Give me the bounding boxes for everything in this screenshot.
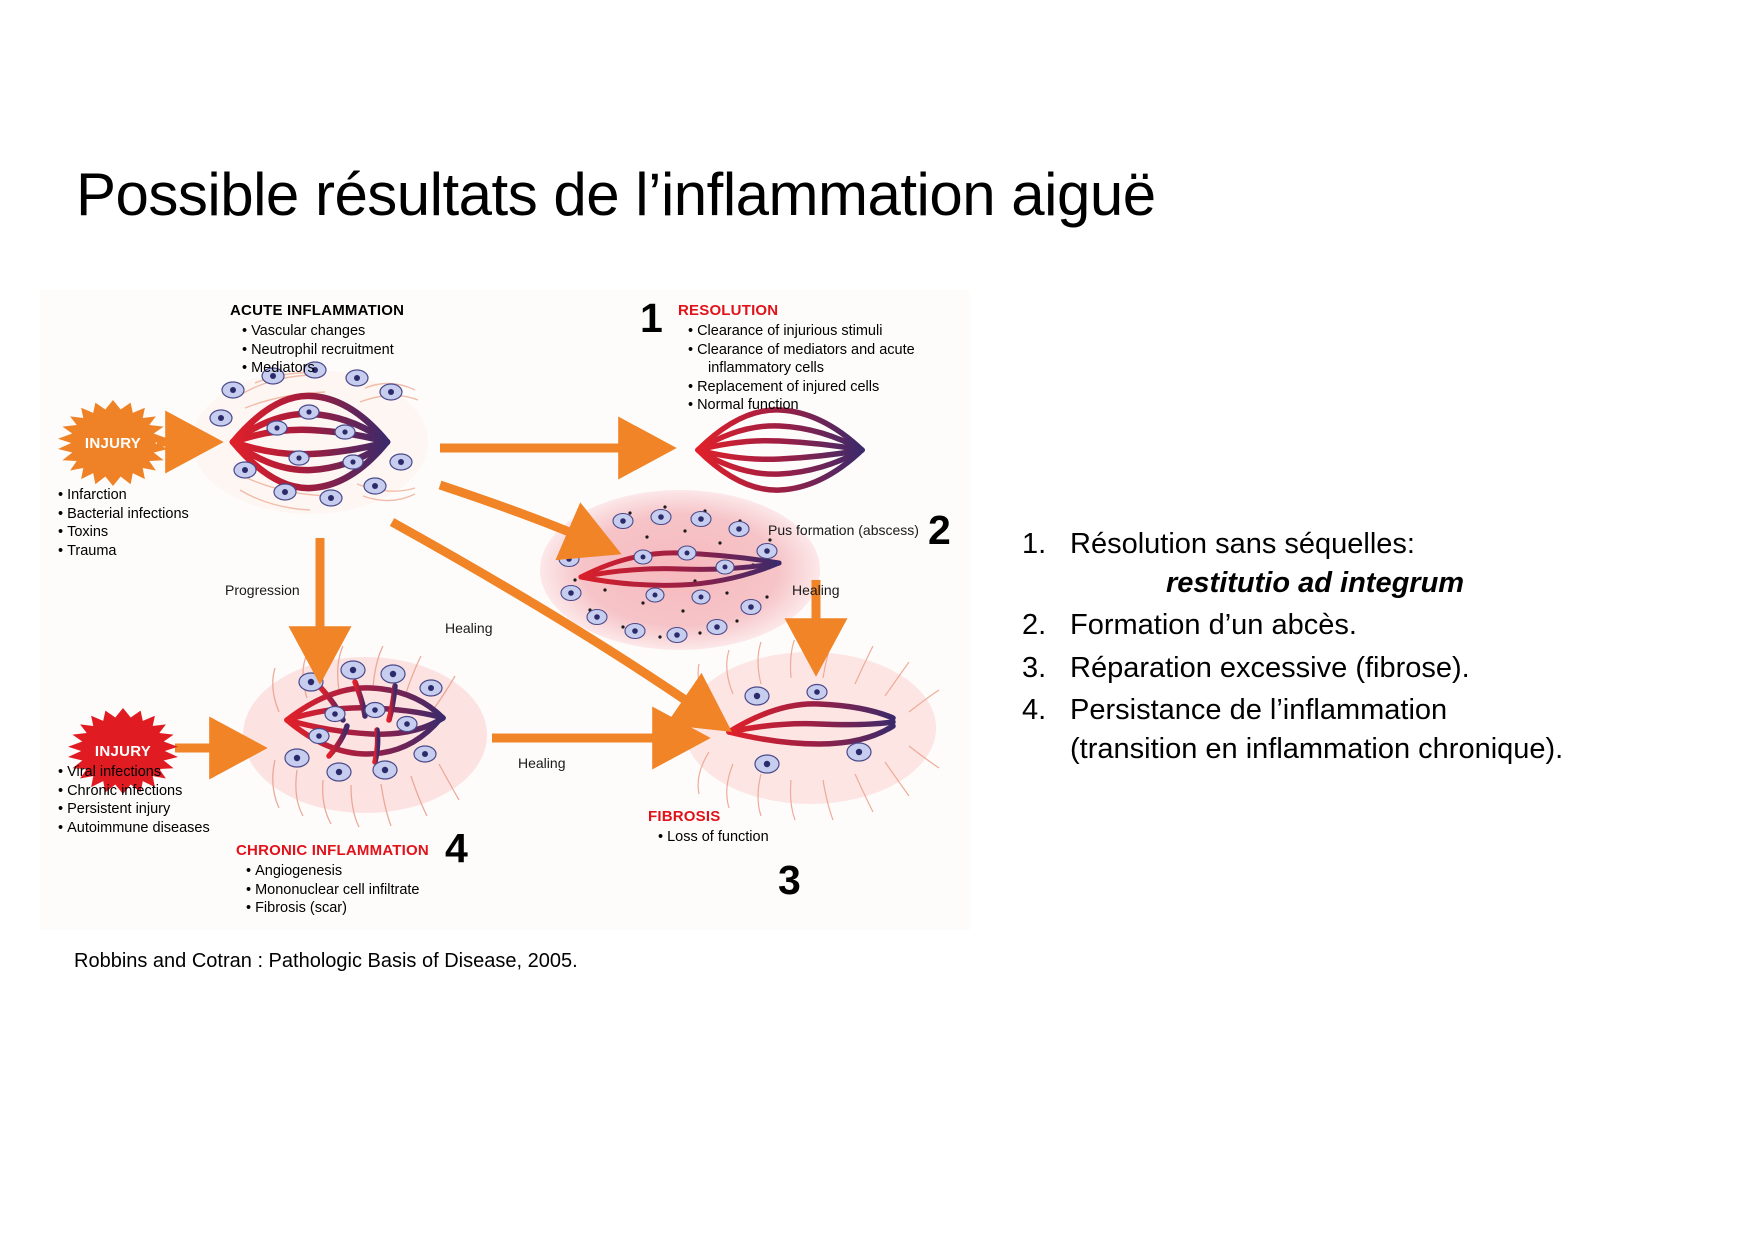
fibrosis-heading: FIBROSIS — [648, 808, 720, 825]
chronic-inflammation-vessel-illustration — [235, 640, 495, 830]
outcome-number-4: 4 — [445, 828, 468, 869]
acute-bullet: Vascular changes — [242, 322, 394, 341]
abscess-label: Pus formation (abscess) — [768, 522, 919, 538]
resolution-bullet-continuation: inflammatory cells — [688, 359, 915, 378]
acute-inflammation-heading: ACUTE INFLAMMATION — [230, 302, 404, 319]
outcome-text: Résolution sans séquelles: restitutio ad… — [1070, 525, 1662, 602]
abscess-illustration — [535, 485, 825, 655]
fibrosis-bullet: Loss of function — [658, 828, 769, 847]
chronic-bullet: Angiogenesis — [246, 862, 420, 881]
resolution-heading: RESOLUTION — [678, 302, 778, 319]
acute-bullet: Mediators — [242, 359, 394, 378]
outcome-emphasis: restitutio ad integrum — [1070, 564, 1662, 603]
inflammation-outcomes-diagram: INJURY INJURY ACUTE INFLAMMATION Vascula… — [40, 290, 970, 930]
outcome-label: Résolution sans séquelles: — [1070, 528, 1415, 560]
injury-chronic-cause: Persistent injury — [58, 800, 210, 819]
outcome-continuation: (transition en inflammation chronique). — [1070, 730, 1662, 769]
resolution-bullet: Normal function — [688, 396, 915, 415]
outcomes-list: 1. Résolution sans séquelles: restitutio… — [1022, 525, 1662, 772]
page-title: Possible résultats de l’inflammation aig… — [76, 162, 1156, 228]
arrow-label-healing-abscess: Healing — [792, 582, 839, 598]
arrow-label-progression: Progression — [225, 582, 300, 598]
outcome-number: 3. — [1022, 649, 1070, 688]
injury-burst-chronic-label: INJURY — [95, 743, 151, 760]
resolution-bullet: Clearance of mediators and acute — [688, 341, 915, 360]
list-item: 3. Réparation excessive (fibrose). — [1022, 649, 1662, 688]
injury-acute-causes: Infarction Bacterial infections Toxins T… — [58, 486, 189, 560]
outcome-number: 2. — [1022, 606, 1070, 645]
outcome-text: Réparation excessive (fibrose). — [1070, 649, 1662, 688]
list-item: 1. Résolution sans séquelles: restitutio… — [1022, 525, 1662, 602]
injury-acute-cause: Bacterial infections — [58, 505, 189, 524]
arrow-label-healing-middle: Healing — [445, 620, 492, 636]
resolution-bullet: Replacement of injured cells — [688, 378, 915, 397]
outcome-number: 1. — [1022, 525, 1070, 564]
arrow-label-healing-bottom: Healing — [518, 755, 565, 771]
resolution-bullet: Clearance of injurious stimuli — [688, 322, 915, 341]
outcome-text: Formation d’un abcès. — [1070, 606, 1662, 645]
outcome-number-1: 1 — [640, 298, 663, 339]
acute-inflammation-bullets: Vascular changes Neutrophil recruitment … — [242, 322, 394, 378]
resolution-bullets: Clearance of injurious stimuli Clearance… — [688, 322, 915, 415]
outcome-number: 4. — [1022, 691, 1070, 730]
injury-chronic-cause: Autoimmune diseases — [58, 819, 210, 838]
chronic-bullet: Mononuclear cell infiltrate — [246, 881, 420, 900]
acute-bullet: Neutrophil recruitment — [242, 341, 394, 360]
list-item: 2. Formation d’un abcès. — [1022, 606, 1662, 645]
acute-inflammation-vessel-illustration — [185, 350, 435, 535]
injury-chronic-cause: Chronic infections — [58, 782, 210, 801]
fibrosis-vessel-illustration — [675, 640, 945, 820]
chronic-bullet: Fibrosis (scar) — [246, 899, 420, 918]
outcome-number-3: 3 — [778, 860, 801, 901]
chronic-inflammation-bullets: Angiogenesis Mononuclear cell infiltrate… — [246, 862, 420, 918]
outcome-text: Persistance de l’inflammation (transitio… — [1070, 691, 1662, 768]
outcome-label: Persistance de l’inflammation — [1070, 694, 1447, 726]
fibrosis-bullets: Loss of function — [658, 828, 769, 847]
injury-acute-cause: Toxins — [58, 523, 189, 542]
outcome-number-2: 2 — [928, 510, 951, 551]
list-item: 4. Persistance de l’inflammation (transi… — [1022, 691, 1662, 768]
injury-chronic-causes: Viral infections Chronic infections Pers… — [58, 763, 210, 837]
chronic-inflammation-heading: CHRONIC INFLAMMATION — [236, 842, 429, 859]
injury-burst-acute-label: INJURY — [85, 435, 141, 452]
injury-chronic-cause: Viral infections — [58, 763, 210, 782]
source-citation: Robbins and Cotran : Pathologic Basis of… — [74, 950, 578, 973]
injury-acute-cause: Infarction — [58, 486, 189, 505]
injury-acute-cause: Trauma — [58, 542, 189, 561]
